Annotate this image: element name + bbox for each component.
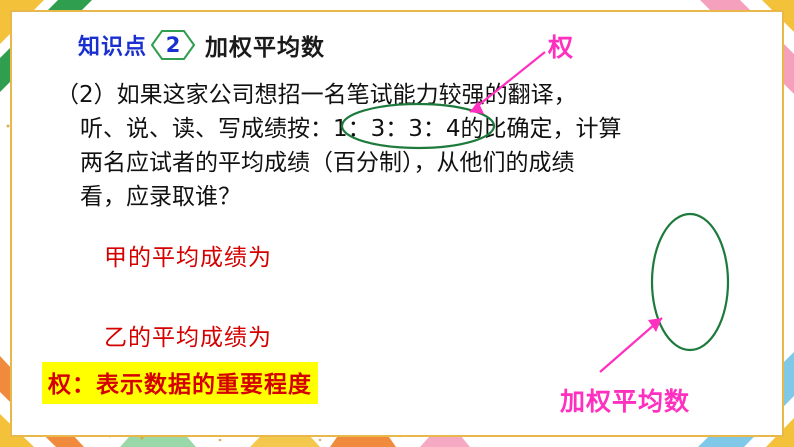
question-line-2: 听、说、读、写成绩按：1：3：3：4的比确定，计算 xyxy=(56,112,756,146)
question-line-4: 看，应录取谁？ xyxy=(56,180,756,214)
definition-highlight: 权：表示数据的重要程度 xyxy=(42,362,318,404)
question-block: （2）如果这家公司想招一名笔试能力较强的翻译， 听、说、读、写成绩按：1：3：3… xyxy=(56,78,756,214)
knowledge-point-badge: 知识点 2 加权平均数 xyxy=(78,28,325,62)
annotation-weighted-mean-label: 加权平均数 xyxy=(560,382,690,418)
question-line-3: 两名应试者的平均成绩（百分制），从他们的成绩 xyxy=(56,146,756,180)
knowledge-point-title: 加权平均数 xyxy=(205,28,325,62)
knowledge-point-label: 知识点 xyxy=(78,29,147,61)
knowledge-point-number: 2 xyxy=(166,33,181,57)
answer-yi-label: 乙的平均成绩为 xyxy=(104,318,272,352)
question-line-1: （2）如果这家公司想招一名笔试能力较强的翻译， xyxy=(56,82,577,108)
answer-jia-label: 甲的平均成绩为 xyxy=(104,238,272,272)
hexagon-icon: 2 xyxy=(151,30,195,60)
annotation-quan-label: 权 xyxy=(548,28,573,64)
